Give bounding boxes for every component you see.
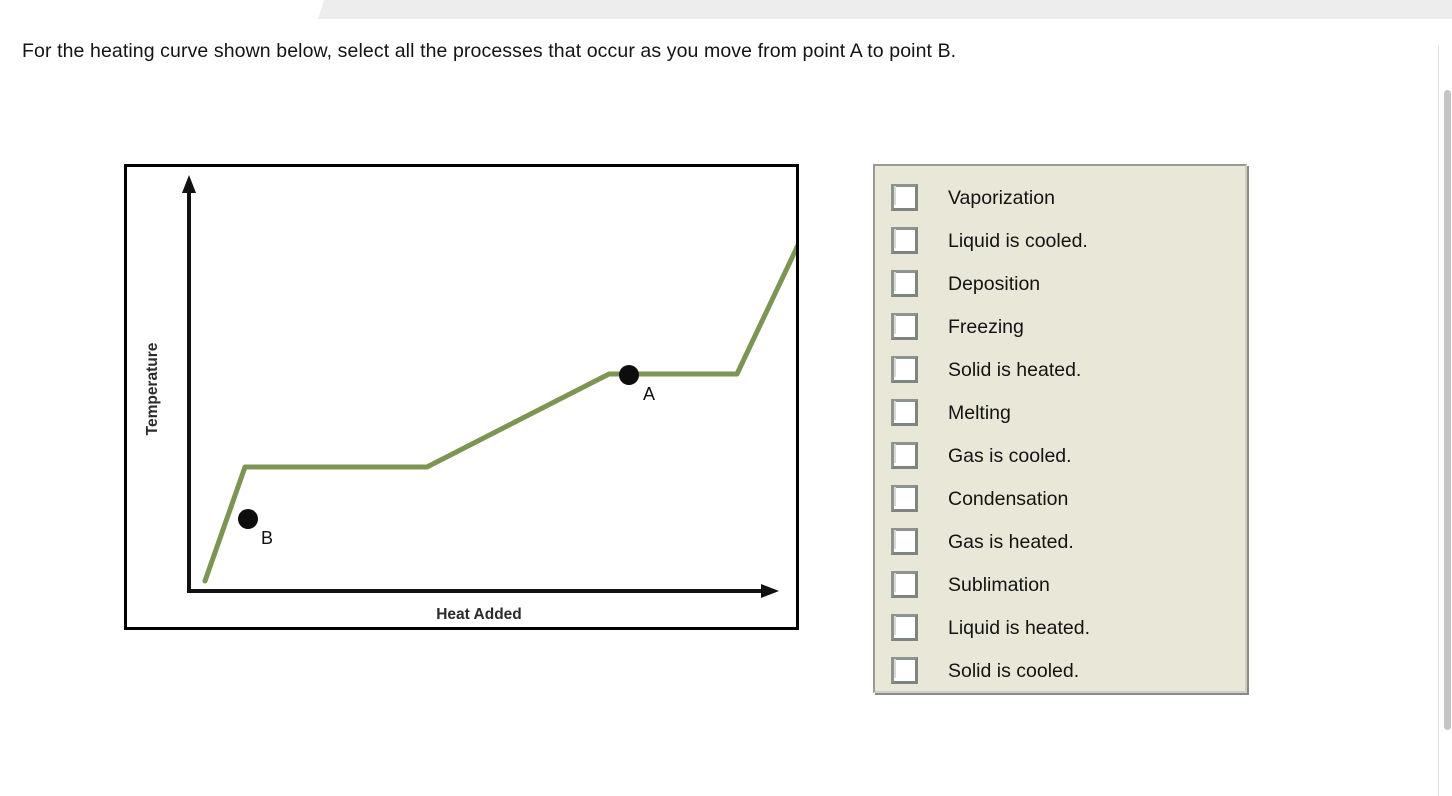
option-row[interactable]: Solid is heated. [875,348,1245,391]
checkbox-inner [894,358,896,377]
checkbox-inner [894,186,896,205]
checkbox-condensation[interactable] [891,485,918,512]
checkbox-gas-is-cooled[interactable] [891,442,918,469]
point-a-marker: A [619,365,655,404]
option-label: Liquid is heated. [948,617,1090,639]
checkbox-melting[interactable] [891,399,918,426]
point-b-marker: B [238,509,273,548]
checkbox-gas-is-heated[interactable] [891,528,918,555]
checkbox-inner [894,659,896,678]
checkbox-inner [894,315,896,334]
option-row[interactable]: Gas is cooled. [875,434,1245,477]
question-prompt: For the heating curve shown below, selec… [22,38,1352,64]
option-label: Gas is heated. [948,531,1074,553]
option-label: Vaporization [948,187,1055,209]
checkbox-solid-is-heated[interactable] [891,356,918,383]
option-label: Gas is cooled. [948,445,1072,467]
x-axis-title: Heat Added [436,606,522,623]
checkbox-inner [894,530,896,549]
checkbox-inner [894,573,896,592]
checkbox-inner [894,444,896,463]
checkbox-solid-is-cooled[interactable] [891,657,918,684]
checkbox-freezing[interactable] [891,313,918,340]
checkbox-inner [894,487,896,506]
checkbox-liquid-is-cooled[interactable] [891,227,918,254]
checkbox-liquid-is-heated[interactable] [891,614,918,641]
option-label: Freezing [948,316,1024,338]
option-row[interactable]: Melting [875,391,1245,434]
checkbox-inner [894,229,896,248]
option-row[interactable]: Sublimation [875,563,1245,606]
checkbox-vaporization[interactable] [891,184,918,211]
option-label: Deposition [948,273,1040,295]
y-axis [182,175,196,591]
process-options-list: VaporizationLiquid is cooled.DepositionF… [875,176,1245,692]
option-row[interactable]: Liquid is heated. [875,606,1245,649]
option-label: Melting [948,402,1011,424]
option-label: Solid is cooled. [948,660,1079,682]
option-row[interactable]: Vaporization [875,176,1245,219]
option-row[interactable]: Liquid is cooled. [875,219,1245,262]
checkbox-sublimation[interactable] [891,571,918,598]
point-a-label: A [643,384,655,404]
option-row[interactable]: Condensation [875,477,1245,520]
top-bar-strip [0,0,1452,20]
checkbox-inner [894,272,896,291]
checkbox-inner [894,616,896,635]
checkbox-deposition[interactable] [891,270,918,297]
point-b-label: B [261,528,273,548]
x-axis [187,584,779,598]
option-label: Liquid is cooled. [948,230,1088,252]
checkbox-inner [894,401,896,420]
option-label: Condensation [948,488,1068,510]
heating-curve-svg: B A Temperature Heat Added [127,167,796,627]
option-label: Sublimation [948,574,1050,596]
top-bar-strip-fill [318,0,1452,19]
option-row[interactable]: Freezing [875,305,1245,348]
option-row[interactable]: Solid is cooled. [875,649,1245,692]
vertical-scrollbar-thumb[interactable] [1444,90,1451,730]
option-row[interactable]: Deposition [875,262,1245,305]
vertical-scrollbar-track[interactable] [1438,45,1452,796]
heating-curve-line [205,243,796,581]
process-options-panel: VaporizationLiquid is cooled.DepositionF… [873,164,1247,693]
option-label: Solid is heated. [948,359,1081,381]
y-axis-title: Temperature [144,342,161,435]
option-row[interactable]: Gas is heated. [875,520,1245,563]
heating-curve-chart: B A Temperature Heat Added [124,164,799,630]
